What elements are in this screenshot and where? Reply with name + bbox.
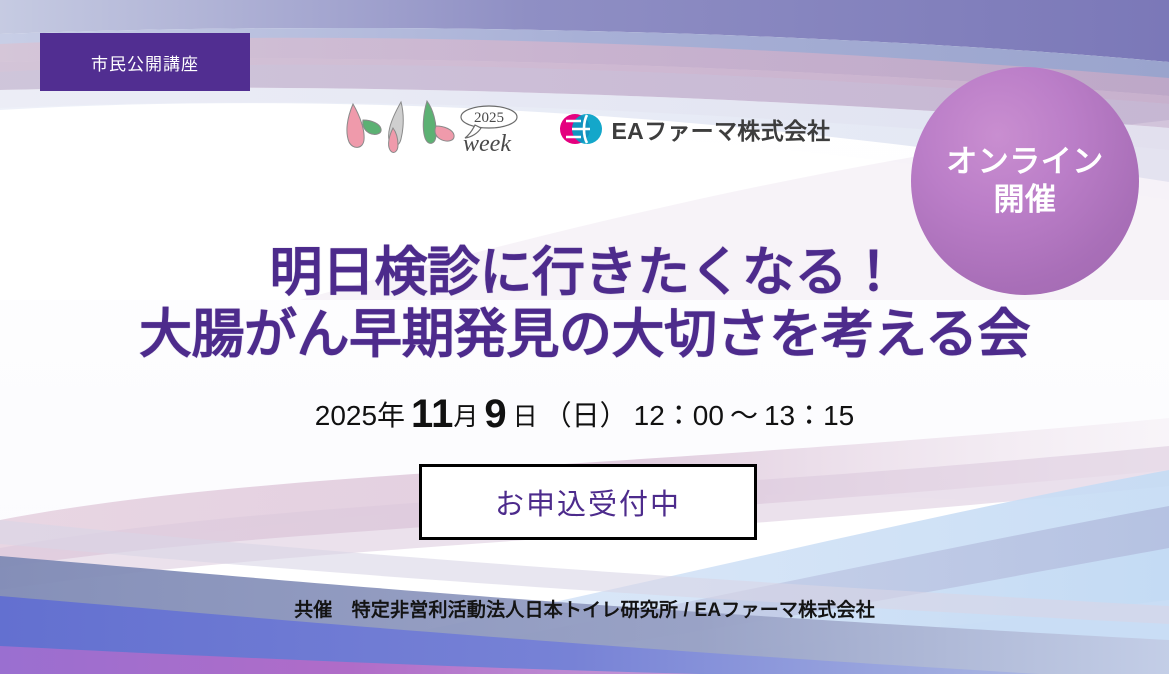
ea-pharma-company-name: EAファーマ株式会社 [612, 112, 831, 146]
registration-cta-button[interactable]: お申込受付中 [419, 464, 757, 540]
seminar-banner: 市民公開講座 2025 week [0, 0, 1169, 674]
online-event-badge-line2: 開催 [994, 181, 1057, 219]
page-title: 明日検診に行きたくなる！ 大腸がん早期発見の大切さを考える会 [0, 242, 1169, 366]
event-year: 2025年 [315, 400, 405, 431]
event-datetime: 2025年11月9日（日）12：00〜13：15 [0, 392, 1169, 437]
event-time-range-mark: 〜 [730, 400, 758, 431]
event-weekday: （日） [544, 400, 628, 431]
toilet-week-logo: 2025 week [339, 98, 529, 160]
event-day-unit: 日 [513, 403, 538, 431]
public-lecture-badge-label: 市民公開講座 [91, 50, 199, 75]
event-month-number: 11 [411, 392, 453, 436]
event-month-unit: 月 [453, 403, 478, 431]
ea-pharma-logo: EAファーマ株式会社 [559, 108, 831, 150]
public-lecture-badge: 市民公開講座 [40, 33, 250, 91]
page-title-line2: 大腸がん早期発見の大切さを考える会 [0, 304, 1169, 366]
toilet-week-year: 2025 [474, 110, 504, 126]
page-title-line1: 明日検診に行きたくなる！ [0, 242, 1169, 304]
registration-cta-label: お申込受付中 [495, 481, 681, 523]
ea-pharma-mark [559, 108, 603, 150]
logo-row: 2025 week EAファーマ株式会社 [0, 98, 1169, 160]
event-start-time: 12：00 [634, 400, 724, 431]
toilet-week-word: week [463, 131, 511, 157]
cohost-credit: 共催 特定非営利活動法人日本トイレ研究所 / EAファーマ株式会社 [0, 595, 1169, 622]
toilet-week-mark: 2025 week [339, 98, 529, 160]
event-end-time: 13：15 [764, 400, 854, 431]
event-day-number: 9 [484, 392, 506, 436]
